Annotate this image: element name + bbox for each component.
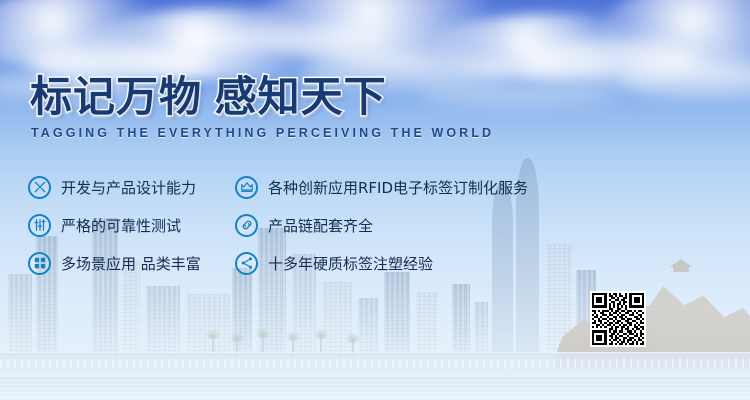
crossed-tools-icon bbox=[28, 176, 51, 199]
page-subtitle: TAGGING THE EVERYTHING PERCEIVING THE WO… bbox=[31, 126, 494, 140]
feature-label: 开发与产品设计能力 bbox=[61, 177, 196, 198]
feature-label: 各种创新应用RFID电子标签订制化服务 bbox=[268, 177, 528, 198]
qr-code-matrix bbox=[592, 293, 644, 345]
feature-column-left: 开发与产品设计能力 严格的可靠性测试 bbox=[28, 168, 201, 282]
share-nodes-icon bbox=[235, 252, 258, 275]
feature-label: 多场景应用 品类丰富 bbox=[61, 253, 201, 274]
crown-icon bbox=[235, 176, 258, 199]
feature-column-right: 各种创新应用RFID电子标签订制化服务 产品链配套齐全 bbox=[235, 168, 528, 282]
feature-item: 开发与产品设计能力 bbox=[28, 168, 201, 206]
pagoda-icon bbox=[670, 259, 692, 272]
feature-label: 严格的可靠性测试 bbox=[61, 215, 181, 236]
grid-four-icon bbox=[28, 252, 51, 275]
qr-code[interactable] bbox=[590, 291, 646, 347]
promo-banner: 标记万物 感知天下 TAGGING THE EVERYTHING PERCEIV… bbox=[0, 0, 750, 400]
feature-item: 产品链配套齐全 bbox=[235, 206, 528, 244]
feature-label: 十多年硬质标签注塑经验 bbox=[268, 253, 433, 274]
sliders-icon bbox=[28, 214, 51, 237]
feature-item: 十多年硬质标签注塑经验 bbox=[235, 244, 528, 282]
feature-item: 严格的可靠性测试 bbox=[28, 206, 201, 244]
page-title: 标记万物 感知天下 bbox=[30, 76, 387, 118]
feature-item: 各种创新应用RFID电子标签订制化服务 bbox=[235, 168, 528, 206]
feature-label: 产品链配套齐全 bbox=[268, 215, 373, 236]
feature-item: 多场景应用 品类丰富 bbox=[28, 244, 201, 282]
chain-link-icon bbox=[235, 214, 258, 237]
